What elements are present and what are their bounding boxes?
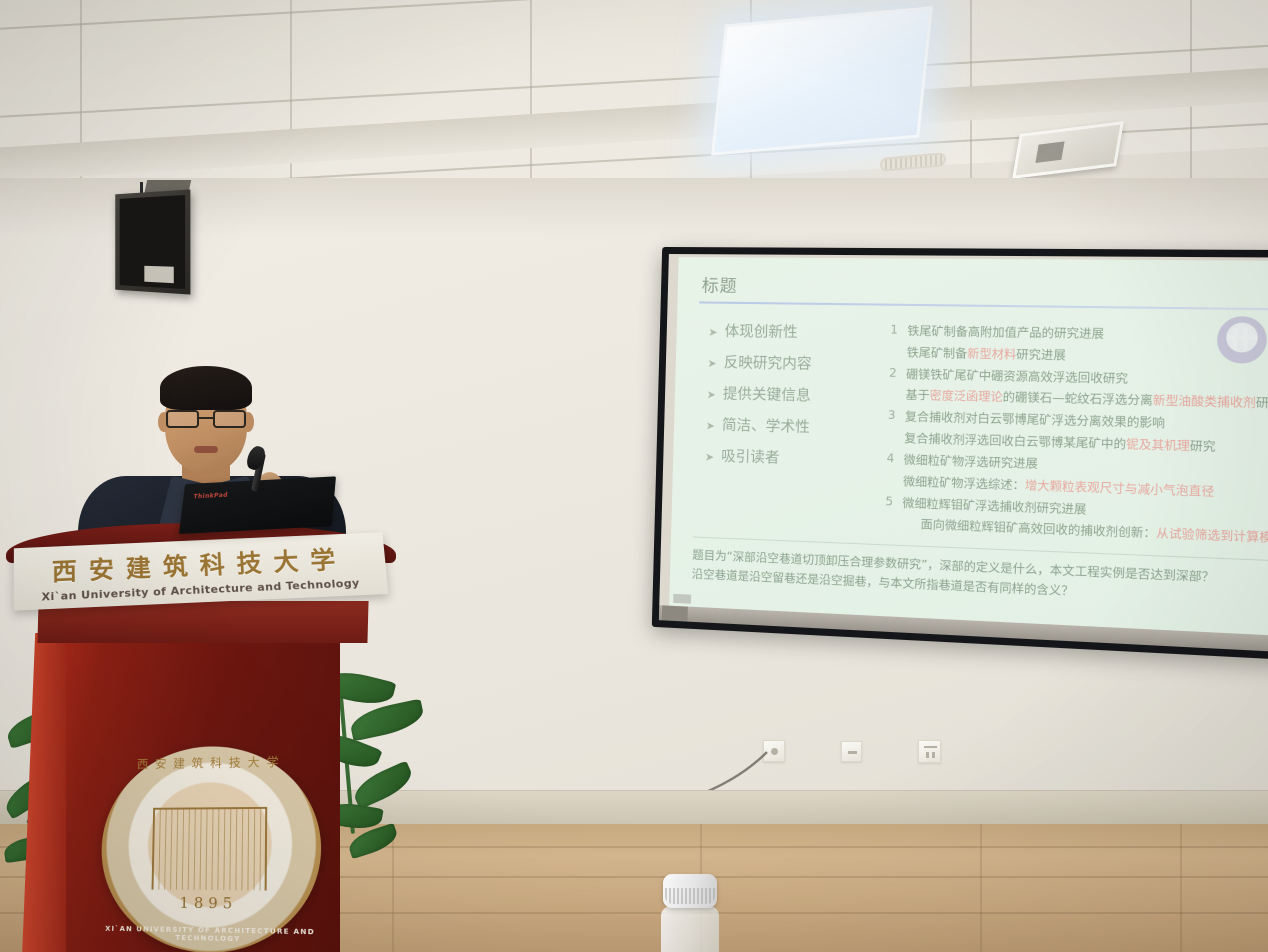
- presentation-slide: 标题 ➤ 体现创新性 ➤ 反映研究内容: [669, 257, 1268, 636]
- item-number: 2: [883, 365, 897, 384]
- arrow-icon: ➤: [705, 450, 715, 463]
- screen-surface: 标题 ➤ 体现创新性 ➤ 反映研究内容: [659, 254, 1268, 636]
- lecture-hall-photo: 标题 ➤ 体现创新性 ➤ 反映研究内容: [0, 0, 1268, 952]
- item-title: 硼镁铁矿尾矿中硼资源高效浮选回收研究: [906, 365, 1128, 388]
- item-number: 5: [879, 493, 893, 512]
- item-title: 微细粒辉钼矿浮选捕收剂研究进展: [902, 494, 1086, 519]
- emblem-building-icon: [152, 807, 267, 890]
- subtitle-highlight: 增大颗粒表观尺寸与减小气泡直径: [1025, 477, 1215, 498]
- subtitle-post: 研究进展: [1016, 347, 1066, 363]
- item-title: 铁尾矿制备高附加值产品的研究进展: [907, 322, 1104, 344]
- subtitle-pre: 基于: [905, 388, 929, 403]
- list-item: ➤ 反映研究内容: [707, 351, 870, 375]
- bullet-label: 体现创新性: [724, 320, 798, 342]
- bullet-label: 简洁、学术性: [722, 414, 810, 438]
- arrow-icon: ➤: [707, 357, 717, 370]
- bullet-label: 吸引读者: [721, 445, 780, 468]
- subtitle-highlight-2: 新型油酸类捕收剂: [1153, 393, 1257, 410]
- list-item: 1 铁尾矿制备高附加值产品的研究进展: [884, 322, 1268, 347]
- wall-socket-middle: [841, 741, 862, 762]
- subtitle-post: 研究: [1256, 395, 1268, 411]
- title-divider: [699, 301, 1268, 310]
- presenter-mouth: [194, 446, 218, 453]
- subtitle-highlight: 从试验筛选到计算模拟: [1156, 526, 1268, 546]
- screen-frame: 标题 ➤ 体现创新性 ➤ 反映研究内容: [652, 247, 1268, 661]
- list-item: ➤ 体现创新性: [708, 320, 871, 344]
- ceiling-light-panel: [711, 6, 933, 155]
- emblem-year: 1895: [100, 893, 321, 914]
- list-item: ➤ 提供关键信息: [706, 382, 869, 407]
- arrow-icon: ➤: [706, 419, 716, 432]
- subtitle-highlight: 新型材料: [967, 346, 1016, 361]
- bottle-body: [661, 906, 719, 952]
- item-title: 微细粒矿物浮选研究进展: [903, 451, 1038, 474]
- eyeglasses-icon: [166, 410, 246, 428]
- water-bottle: [655, 874, 725, 952]
- item-title: 复合捕收剂对白云鄂博尾矿浮选分离效果的影响: [905, 408, 1166, 433]
- slide-title: 标题: [701, 271, 738, 297]
- subtitle-highlight: 密度泛函理论: [929, 388, 1003, 404]
- item-number: 3: [882, 408, 896, 427]
- subtitle-pre: 微细粒矿物浮选综述：: [903, 474, 1025, 493]
- arrow-icon: ➤: [708, 326, 718, 339]
- subtitle-post: 研究: [1190, 438, 1216, 454]
- slide-numbered-list: 1 铁尾矿制备高附加值产品的研究进展 铁尾矿制备新型材料研究进展 2 硼镁铁矿尾…: [879, 322, 1268, 552]
- projection-screen: 标题 ➤ 体现创新性 ➤ 反映研究内容: [652, 247, 1268, 661]
- wall-mounted-speaker: [100, 178, 200, 298]
- bottle-cap: [663, 874, 717, 908]
- subtitle-pre: 面向微细粒辉钼矿高效回收的捕收剂创新：: [921, 517, 1157, 541]
- item-number: 1: [884, 322, 898, 341]
- arrow-icon: ➤: [706, 388, 716, 401]
- screen-bottom-tab: [662, 605, 688, 621]
- laptop-brand-label: ThinkPad: [193, 492, 228, 501]
- subtitle-pre: 复合捕收剂浮选回收白云鄂博某尾矿中的: [904, 431, 1126, 452]
- list-item: ➤ 吸引读者: [705, 444, 868, 470]
- slide-corner-marker: [673, 594, 691, 604]
- podium-edge: [22, 633, 66, 952]
- item-number: 4: [881, 450, 895, 469]
- subtitle-pre: 铁尾矿制备: [907, 345, 968, 361]
- slide-bullet-list: ➤ 体现创新性 ➤ 反映研究内容 ➤ 提供关键信息 ➤: [704, 320, 871, 481]
- bullet-label: 提供关键信息: [723, 382, 811, 405]
- presenter-hair: [160, 366, 252, 410]
- subtitle-mid: 的硼镁石—蛇纹石浮选分离: [1003, 390, 1154, 408]
- subtitle-highlight: 铌及其机理: [1126, 437, 1190, 454]
- bullet-label: 反映研究内容: [723, 351, 811, 374]
- list-item: ➤ 简洁、学术性: [706, 413, 869, 439]
- wall-socket-left: [763, 740, 785, 762]
- emblem-chinese-ring: 西安建筑科技大学: [104, 753, 322, 773]
- wall-socket-right: [918, 740, 941, 763]
